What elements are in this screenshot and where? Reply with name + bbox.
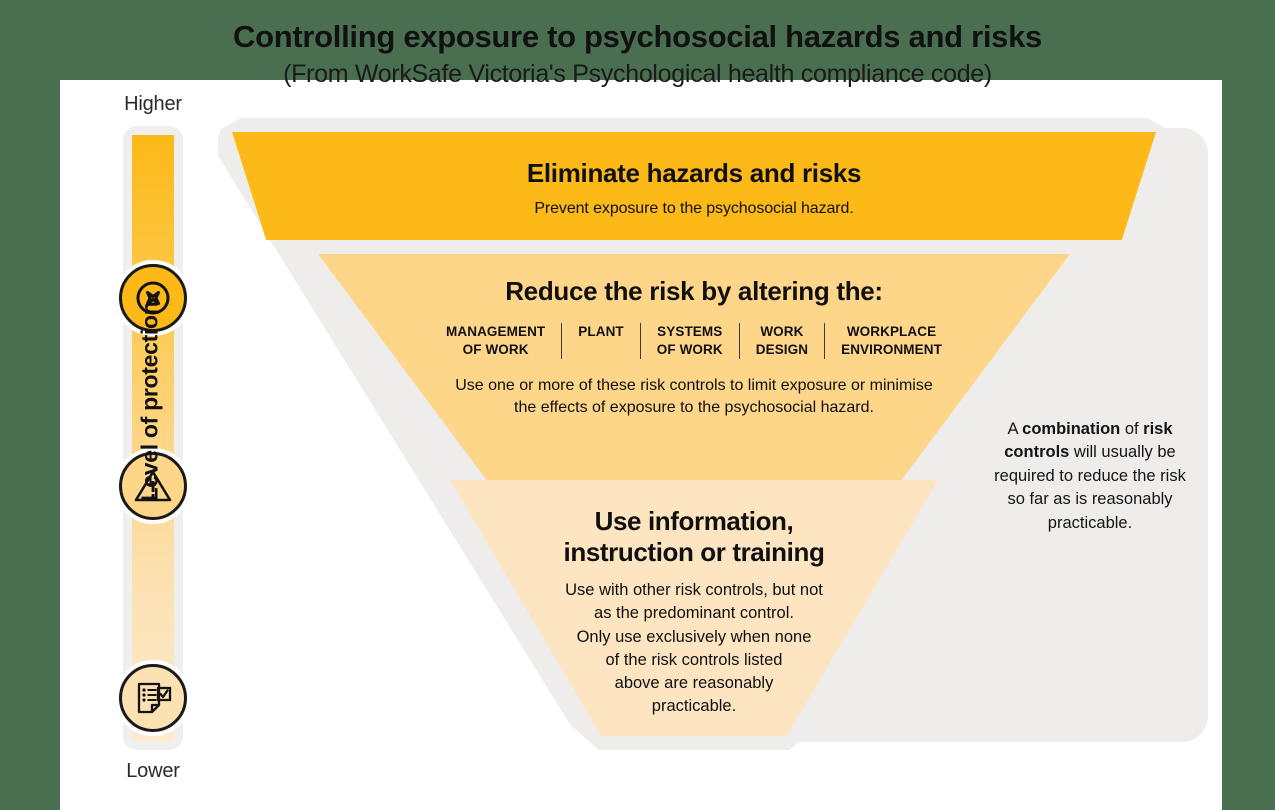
- level-subtitle: Use one or more of these risk controls t…: [318, 359, 1070, 418]
- axis-top-label: Higher: [103, 93, 203, 116]
- control-column-systems-of-work: SYSTEMS OF WORK: [640, 323, 739, 359]
- axis-bottom-label: Lower: [103, 760, 203, 783]
- note-part-2: of: [1120, 420, 1143, 438]
- level-subtitle: Prevent exposure to the psychosocial haz…: [232, 189, 1156, 218]
- level-of-protection-axis: Higher: [103, 88, 203, 788]
- level-subtitle: Use with other risk controls, but not as…: [450, 567, 938, 718]
- funnel-level-inform: Use information, instruction or training…: [450, 480, 938, 736]
- funnel-level-eliminate: Eliminate hazards and risks Prevent expo…: [232, 132, 1156, 240]
- document-checklist-icon: [103, 660, 203, 736]
- level-title: Eliminate hazards and risks: [232, 132, 1156, 189]
- control-column-management-of-work: MANAGEMENT OF WORK: [430, 323, 561, 359]
- control-column-work-design: WORK DESIGN: [739, 323, 824, 359]
- axis-title: Level of protection: [137, 277, 164, 527]
- note-part-1: A: [1007, 420, 1022, 438]
- funnel-level-reduce: Reduce the risk by altering the: MANAGEM…: [318, 254, 1070, 486]
- level-title: Reduce the risk by altering the:: [318, 254, 1070, 307]
- title-block: Controlling exposure to psychosocial haz…: [0, 0, 1275, 89]
- page-title: Controlling exposure to psychosocial haz…: [0, 0, 1275, 54]
- control-column-plant: PLANT: [561, 323, 640, 359]
- control-columns: MANAGEMENT OF WORK PLANT SYSTEMS OF WORK…: [318, 307, 1070, 359]
- document-glyph: [133, 679, 173, 717]
- level-title: Use information, instruction or training: [450, 480, 938, 567]
- page-subtitle: (From WorkSafe Victoria's Psychological …: [0, 54, 1275, 89]
- note-bold-combination: combination: [1022, 420, 1120, 438]
- combination-note: A combination of risk controls will usua…: [990, 418, 1190, 535]
- control-column-workplace-environment: WORKPLACE ENVIRONMENT: [824, 323, 958, 359]
